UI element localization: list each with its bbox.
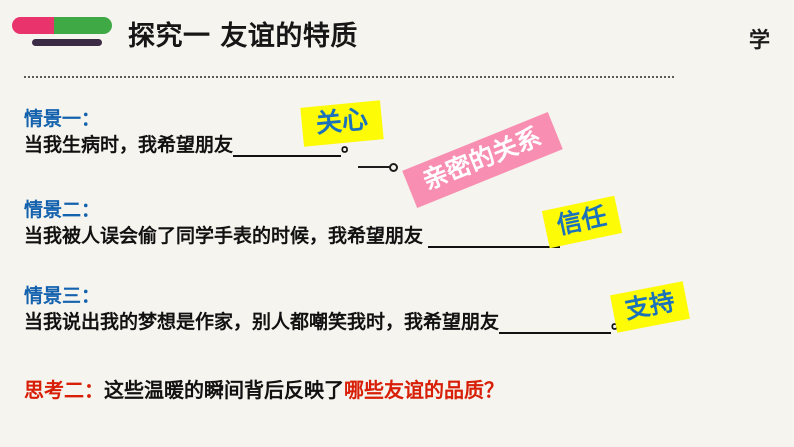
scenario-block-3: 情景三： 当我说出我的梦想是作家，别人都嘲笑我时，我希望朋友。 <box>24 285 630 334</box>
question-line: 思考二：这些温暖的瞬间背后反映了哪些友谊的品质？ <box>24 374 504 403</box>
page-title: 探究一 友谊的特质 <box>128 14 358 53</box>
question-middle-text: 这些温暖的瞬间背后反映了 <box>104 378 344 402</box>
scenario-body-3: 当我说出我的梦想是作家，别人都嘲笑我时，我希望朋友。 <box>24 310 630 335</box>
slide-header: 探究一 友谊的特质 学 <box>0 0 794 70</box>
connector-line <box>358 166 392 168</box>
scenario-block-2: 情景二： 当我被人误会偷了同学手表的时候，我希望朋友。 <box>24 199 579 248</box>
header-divider <box>24 76 674 78</box>
header-corner-text: 学 <box>749 24 770 54</box>
scenario-text-3: 当我说出我的梦想是作家，别人都嘲笑我时，我希望朋友 <box>24 311 499 333</box>
scenario-label-2: 情景二： <box>24 199 579 223</box>
question-label: 思考二： <box>24 378 104 402</box>
question-highlight-text: 哪些友谊的品质？ <box>344 378 504 402</box>
answer-tag-care[interactable]: 关心 <box>300 100 383 146</box>
pill-pink-segment <box>12 17 54 34</box>
scenario-label-3: 情景三： <box>24 285 630 309</box>
header-pill-decoration <box>12 17 112 34</box>
slide-canvas: 探究一 友谊的特质 学 情景一： 当我生病时，我希望朋友。 情景二： 当我被人误… <box>0 0 794 447</box>
header-bar-decoration <box>32 39 102 46</box>
connector-dot <box>389 163 398 172</box>
fill-blank-3[interactable] <box>499 315 611 334</box>
scenario-text-1: 当我生病时，我希望朋友 <box>24 134 233 156</box>
scenario-body-2: 当我被人误会偷了同学手表的时候，我希望朋友。 <box>24 224 579 249</box>
pill-green-segment <box>54 17 112 34</box>
scenario-text-2: 当我被人误会偷了同学手表的时候，我希望朋友 <box>24 225 423 247</box>
fill-blank-2[interactable] <box>428 229 560 248</box>
answer-tag-close-relationship[interactable]: 亲密的关系 <box>402 112 563 208</box>
